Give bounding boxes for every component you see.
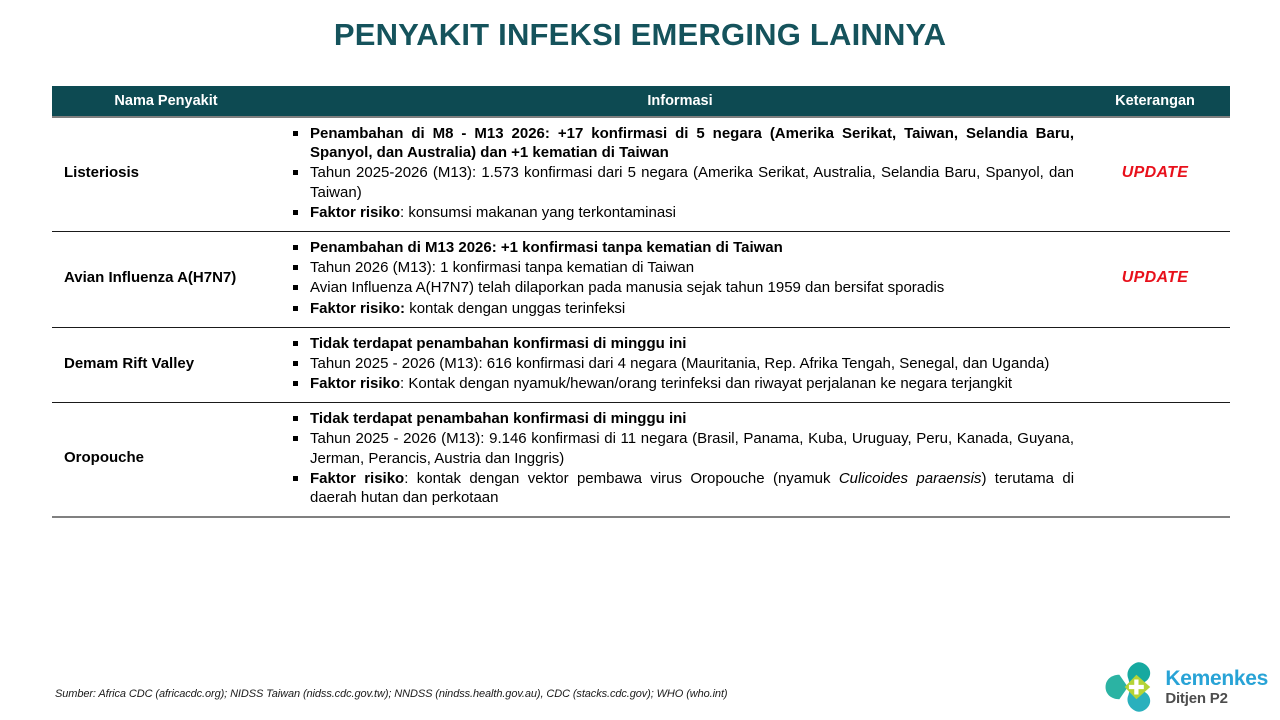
- bullet-lead-label: Faktor risiko: [310, 204, 400, 221]
- bullet-text: kontak dengan unggas terinfeksi: [405, 300, 625, 317]
- keterangan-cell: [1080, 327, 1230, 403]
- table-header: Nama Penyakit Informasi Keterangan: [52, 86, 1230, 117]
- source-footnote: Sumber: Africa CDC (africacdc.org); NIDS…: [55, 688, 727, 700]
- table-header-row: Nama Penyakit Informasi Keterangan: [52, 86, 1230, 117]
- bullet-text: Tidak terdapat penambahan konfirmasi di …: [310, 410, 686, 427]
- bullet-lead-label: Faktor risiko: [310, 470, 404, 487]
- info-bullet-item: Tidak terdapat penambahan konfirmasi di …: [284, 409, 1074, 428]
- logo-brand-label: Kemenkes: [1165, 668, 1268, 689]
- disease-table-container: Nama Penyakit Informasi Keterangan Liste…: [52, 86, 1230, 518]
- info-bullet-item: Faktor risiko: kontak dengan unggas teri…: [284, 299, 1074, 318]
- disease-name-cell: Demam Rift Valley: [52, 327, 280, 403]
- bullet-text: : kontak dengan vektor pembawa virus Oro…: [404, 470, 839, 487]
- kemenkes-clover-icon: [1103, 662, 1157, 712]
- info-bullet-item: Tahun 2025-2026 (M13): 1.573 konfirmasi …: [284, 163, 1074, 201]
- info-bullet-list: Tidak terdapat penambahan konfirmasi di …: [284, 409, 1074, 507]
- info-bullet-list: Penambahan di M13 2026: +1 konfirmasi ta…: [284, 238, 1074, 318]
- disease-name-cell: Oropouche: [52, 403, 280, 517]
- info-bullet-list: Penambahan di M8 - M13 2026: +17 konfirm…: [284, 124, 1074, 222]
- info-bullet-item: Penambahan di M8 - M13 2026: +17 konfirm…: [284, 124, 1074, 162]
- bullet-text: Tahun 2025-2026 (M13): 1.573 konfirmasi …: [310, 164, 1074, 200]
- keterangan-cell: UPDATE: [1080, 231, 1230, 327]
- bullet-text: Tahun 2026 (M13): 1 konfirmasi tanpa kem…: [310, 259, 694, 276]
- status-badge: UPDATE: [1122, 164, 1188, 181]
- keterangan-cell: UPDATE: [1080, 117, 1230, 231]
- info-bullet-item: Faktor risiko: kontak dengan vektor pemb…: [284, 469, 1074, 507]
- table-row: Demam Rift ValleyTidak terdapat penambah…: [52, 327, 1230, 403]
- info-bullet-item: Tahun 2025 - 2026 (M13): 9.146 konfirmas…: [284, 429, 1074, 467]
- table-row: ListeriosisPenambahan di M8 - M13 2026: …: [52, 117, 1230, 231]
- logo-sub-label: Ditjen P2: [1165, 691, 1268, 706]
- bullet-text: Penambahan di M13 2026: +1 konfirmasi ta…: [310, 239, 783, 256]
- bullet-lead-label: Faktor risiko: [310, 375, 400, 392]
- table-row: OropoucheTidak terdapat penambahan konfi…: [52, 403, 1230, 517]
- bullet-text: : konsumsi makanan yang terkontaminasi: [400, 204, 676, 221]
- bullet-text: Tidak terdapat penambahan konfirmasi di …: [310, 335, 686, 352]
- bullet-lead-label: Faktor risiko:: [310, 300, 405, 317]
- info-bullet-list: Tidak terdapat penambahan konfirmasi di …: [284, 334, 1074, 394]
- info-bullet-item: Tahun 2025 - 2026 (M13): 616 konfirmasi …: [284, 354, 1074, 373]
- bullet-text: Avian Influenza A(H7N7) telah dilaporkan…: [310, 279, 944, 296]
- disease-table: Nama Penyakit Informasi Keterangan Liste…: [52, 86, 1230, 518]
- info-bullet-item: Penambahan di M13 2026: +1 konfirmasi ta…: [284, 238, 1074, 257]
- info-bullet-item: Tahun 2026 (M13): 1 konfirmasi tanpa kem…: [284, 258, 1074, 277]
- kemenkes-logo-text: Kemenkes Ditjen P2: [1165, 668, 1268, 706]
- info-bullet-item: Tidak terdapat penambahan konfirmasi di …: [284, 334, 1074, 353]
- disease-name-cell: Avian Influenza A(H7N7): [52, 231, 280, 327]
- disease-info-cell: Penambahan di M8 - M13 2026: +17 konfirm…: [280, 117, 1080, 231]
- bullet-text: Tahun 2025 - 2026 (M13): 616 konfirmasi …: [310, 355, 1049, 372]
- keterangan-cell: [1080, 403, 1230, 517]
- kemenkes-logo: Kemenkes Ditjen P2: [1103, 662, 1268, 712]
- column-header-keterangan: Keterangan: [1080, 86, 1230, 117]
- disease-info-cell: Penambahan di M13 2026: +1 konfirmasi ta…: [280, 231, 1080, 327]
- table-row: Avian Influenza A(H7N7)Penambahan di M13…: [52, 231, 1230, 327]
- bullet-text: : Kontak dengan nyamuk/hewan/orang terin…: [400, 375, 1012, 392]
- disease-info-cell: Tidak terdapat penambahan konfirmasi di …: [280, 403, 1080, 517]
- bullet-text: Tahun 2025 - 2026 (M13): 9.146 konfirmas…: [310, 430, 1074, 466]
- bullet-italic-term: Culicoides paraensis: [839, 470, 982, 487]
- status-badge: UPDATE: [1122, 269, 1188, 286]
- column-header-informasi: Informasi: [280, 86, 1080, 117]
- info-bullet-item: Faktor risiko: konsumsi makanan yang ter…: [284, 203, 1074, 222]
- bullet-text: Penambahan di M8 - M13 2026: +17 konfirm…: [310, 125, 1074, 161]
- column-header-nama-penyakit: Nama Penyakit: [52, 86, 280, 117]
- disease-info-cell: Tidak terdapat penambahan konfirmasi di …: [280, 327, 1080, 403]
- disease-name-cell: Listeriosis: [52, 117, 280, 231]
- page-title: PENYAKIT INFEKSI EMERGING LAINNYA: [0, 0, 1280, 52]
- table-body: ListeriosisPenambahan di M8 - M13 2026: …: [52, 117, 1230, 517]
- info-bullet-item: Faktor risiko: Kontak dengan nyamuk/hewa…: [284, 374, 1074, 393]
- info-bullet-item: Avian Influenza A(H7N7) telah dilaporkan…: [284, 278, 1074, 297]
